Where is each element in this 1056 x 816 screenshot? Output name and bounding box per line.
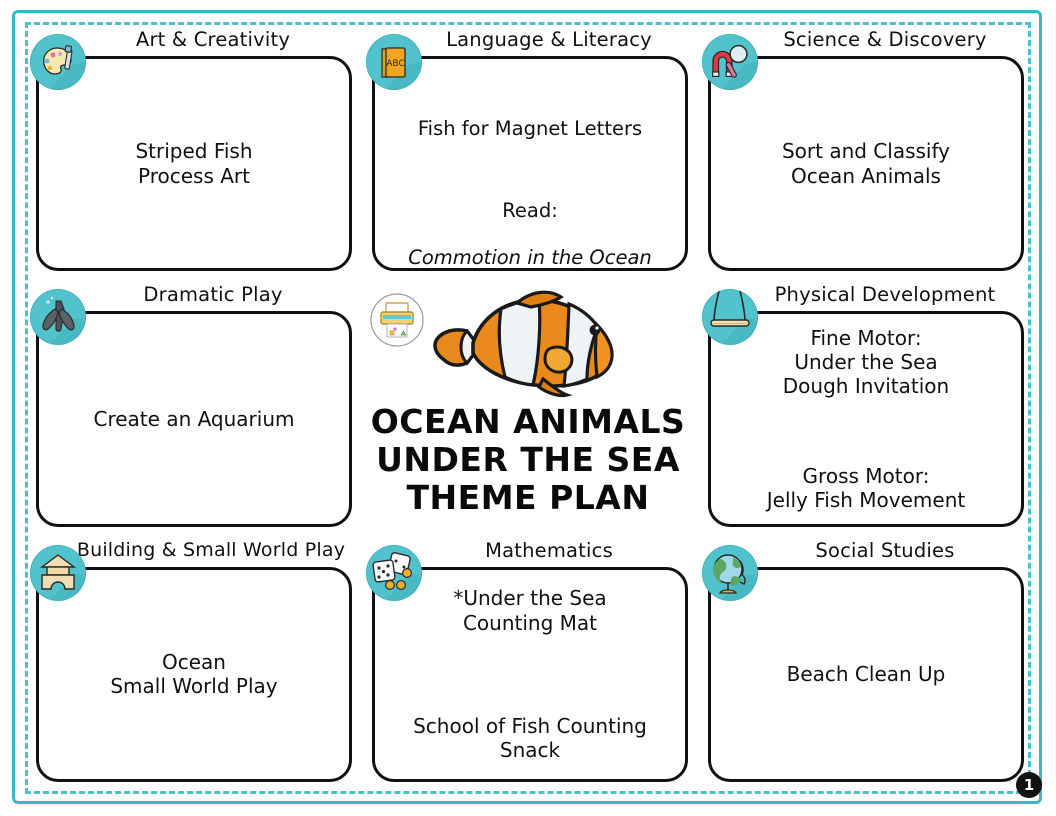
card-language-literacy-title: Language & Literacy (410, 28, 688, 51)
card-language-literacy-box[interactable]: Match the Pearl Uppercase/Lowercase* Fis… (372, 56, 688, 271)
card-social-studies[interactable]: Beach Clean Up Social Studies (700, 541, 1028, 790)
swing-icon (702, 289, 758, 345)
literacy-book-title: Commotion in the Ocean (385, 246, 675, 269)
card-social-studies-title: Social Studies (746, 539, 1024, 562)
card-physical-development-box[interactable]: Fine Motor: Under the Sea Dough Invitati… (708, 311, 1024, 526)
card-science-discovery-box[interactable]: Sort and Classify Ocean Animals (708, 56, 1024, 271)
card-language-literacy[interactable]: Match the Pearl Uppercase/Lowercase* Fis… (364, 30, 692, 279)
card-science-discovery-title: Science & Discovery (746, 28, 1024, 51)
wooden-blocks-icon (30, 545, 86, 601)
page-title: OCEAN ANIMALS UNDER THE SEA THEME PLAN (371, 403, 686, 516)
card-dramatic-play-body: Create an Aquarium (39, 403, 349, 435)
literacy-activity-2: Fish for Magnet Letters (385, 117, 675, 140)
physical-gross-motor: Gross Motor: Jelly Fish Movement (721, 464, 1011, 513)
globe-icon (702, 545, 758, 601)
card-science-discovery[interactable]: Sort and Classify Ocean Animals Science … (700, 30, 1028, 279)
card-physical-development-title: Physical Development (746, 283, 1024, 306)
magnet-magnifier-icon (702, 34, 758, 90)
card-social-studies-body: Beach Clean Up (711, 658, 1021, 690)
literacy-read-label: Read: (385, 199, 675, 222)
svg-text:ABC: ABC (386, 59, 404, 69)
theme-plan-page: Striped Fish Process Art Art & Creativit… (0, 0, 1056, 816)
card-art-creativity[interactable]: Striped Fish Process Art Art & Creativit… (28, 30, 356, 279)
card-science-discovery-body: Sort and Classify Ocean Animals (711, 135, 1021, 192)
dice-icon (366, 545, 422, 601)
theme-plan-grid: Striped Fish Process Art Art & Creativit… (28, 30, 1028, 790)
card-mathematics[interactable]: *Under the Sea Counting Mat School of Fi… (364, 541, 692, 790)
card-language-literacy-body: Match the Pearl Uppercase/Lowercase* Fis… (375, 56, 685, 271)
card-mathematics-title: Mathematics (410, 539, 688, 562)
card-mathematics-box[interactable]: *Under the Sea Counting Mat School of Fi… (372, 567, 688, 782)
card-physical-development[interactable]: Fine Motor: Under the Sea Dough Invitati… (700, 285, 1028, 534)
snorkel-fins-icon (30, 289, 86, 345)
card-dramatic-play-title: Dramatic Play (74, 283, 352, 306)
physical-fine-motor: Fine Motor: Under the Sea Dough Invitati… (721, 326, 1011, 399)
math-activity-2: School of Fish Counting Snack (385, 714, 675, 763)
paint-palette-icon (30, 34, 86, 90)
abc-book-icon: ABC (366, 34, 422, 90)
literacy-activity-1: Match the Pearl Uppercase/Lowercase* (385, 56, 675, 58)
math-activity-1: *Under the Sea Counting Mat (385, 586, 675, 635)
card-physical-development-body: Fine Motor: Under the Sea Dough Invitati… (711, 311, 1021, 526)
center-title-block: OCEAN ANIMALS UNDER THE SEA THEME PLAN (364, 285, 692, 534)
card-building-small-world-play-title: Building & Small World Play (70, 539, 352, 561)
card-art-creativity-box[interactable]: Striped Fish Process Art (36, 56, 352, 271)
card-building-small-world-play-box[interactable]: Ocean Small World Play (36, 567, 352, 782)
clownfish-photo (421, 287, 636, 399)
card-social-studies-box[interactable]: Beach Clean Up (708, 567, 1024, 782)
card-building-small-world-play[interactable]: Ocean Small World Play Building & Small … (28, 541, 356, 790)
card-art-creativity-title: Art & Creativity (74, 28, 352, 51)
printer-logo-watermark (368, 291, 426, 349)
card-building-small-world-play-body: Ocean Small World Play (39, 646, 349, 703)
page-number-badge: 1 (1016, 772, 1042, 798)
card-dramatic-play[interactable]: Create an Aquarium Dramatic Play (28, 285, 356, 534)
card-art-creativity-body: Striped Fish Process Art (39, 135, 349, 192)
card-mathematics-body: *Under the Sea Counting Mat School of Fi… (375, 567, 685, 782)
card-dramatic-play-box[interactable]: Create an Aquarium (36, 311, 352, 526)
